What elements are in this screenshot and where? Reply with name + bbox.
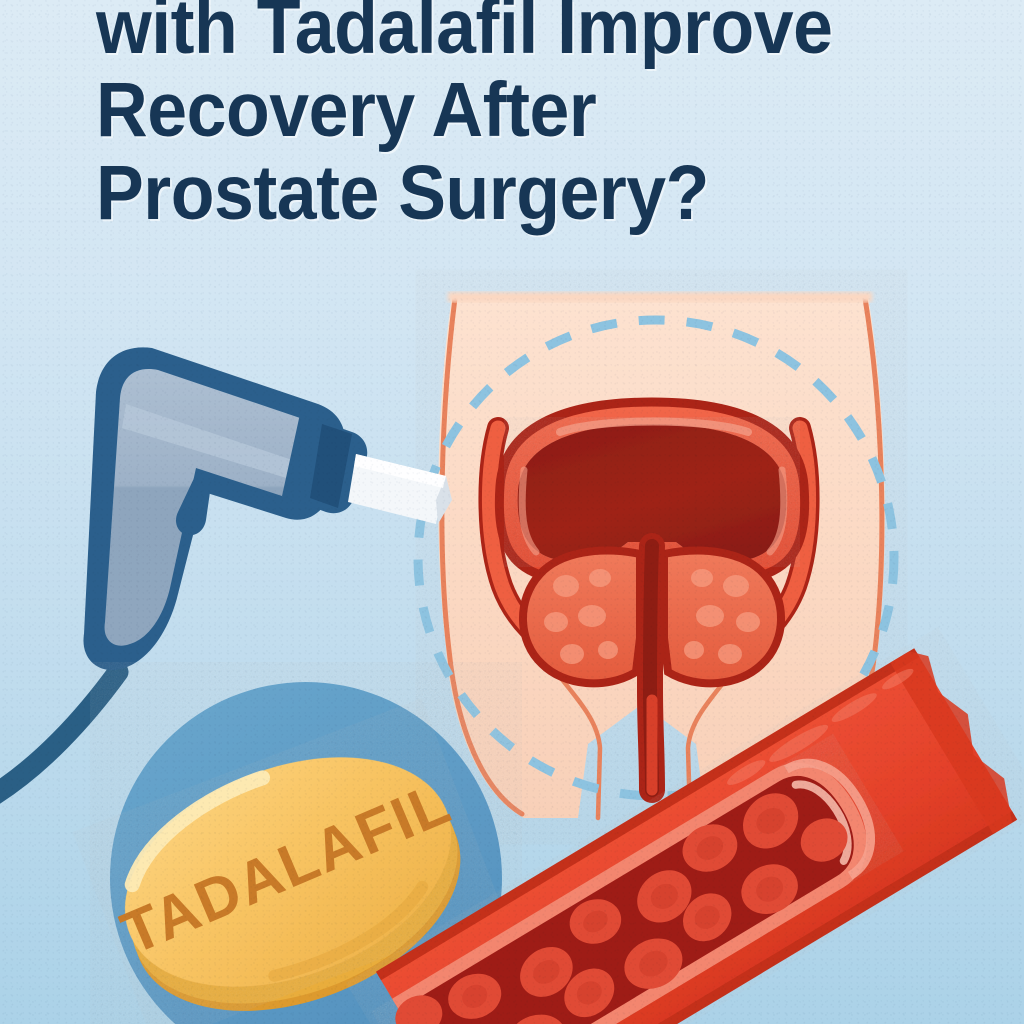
probe-tip xyxy=(348,454,452,524)
title-line-3: Prostate Surgery? xyxy=(96,152,877,235)
infographic-poster: TADALAFIL xyxy=(0,0,1024,1024)
page-title: with Tadalafil Improve Recovery After Pr… xyxy=(96,0,936,235)
urethra xyxy=(650,546,652,790)
title-line-2: Recovery After xyxy=(96,69,877,152)
title-line-1: with Tadalafil Improve xyxy=(96,0,877,69)
